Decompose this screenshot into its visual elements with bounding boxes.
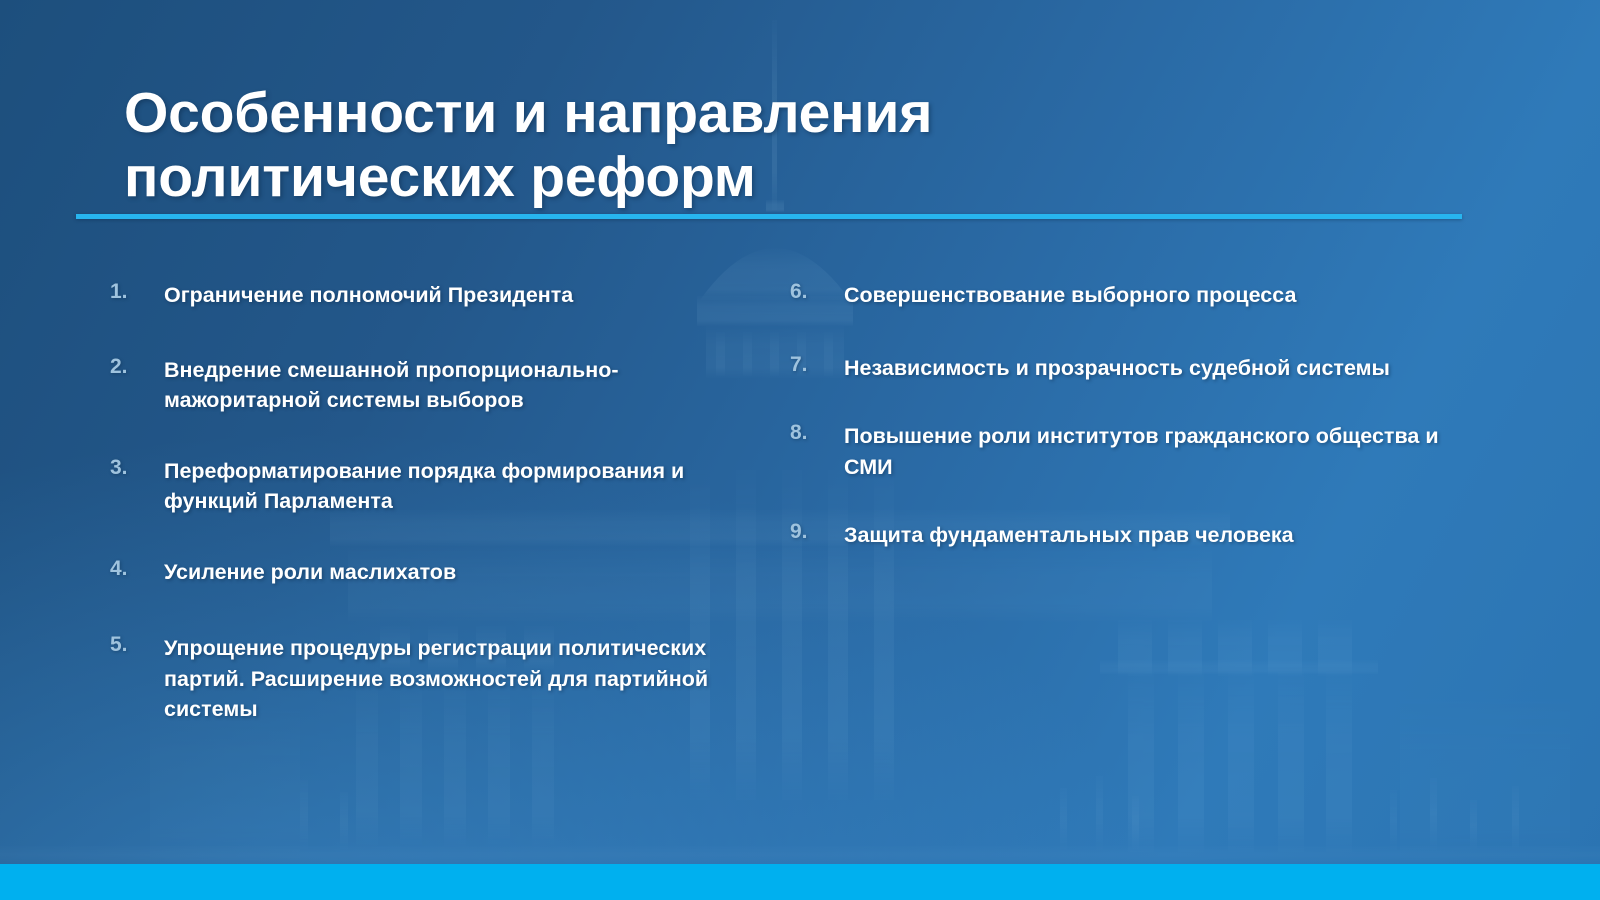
reform-list-left-column: 1. Ограничение полномочий Президента 2. … — [110, 280, 750, 751]
list-item: 5. Упрощение процедуры регистрации полит… — [110, 633, 750, 725]
list-item: 6. Совершенствование выборного процесса — [790, 280, 1450, 311]
bottom-accent-bar — [0, 864, 1600, 900]
list-item-number: 1. — [110, 280, 156, 304]
list-item: 4. Усиление роли маслихатов — [110, 557, 750, 588]
list-item: 2. Внедрение смешанной пропорционально-м… — [110, 355, 750, 416]
list-item: 9. Защита фундаментальных прав человека — [790, 520, 1450, 551]
reform-list-right-column: 6. Совершенствование выборного процесса … — [790, 280, 1450, 577]
list-item-label: Защита фундаментальных прав человека — [844, 520, 1450, 551]
list-item-label: Переформатирование порядка формирования … — [164, 456, 750, 517]
list-item-number: 8. — [790, 421, 836, 445]
list-item-number: 9. — [790, 520, 836, 544]
list-item-number: 2. — [110, 355, 156, 379]
list-item-number: 7. — [790, 353, 836, 377]
list-item: 8. Повышение роли институтов гражданског… — [790, 421, 1450, 482]
title-divider — [76, 214, 1462, 219]
list-item-label: Повышение роли институтов гражданского о… — [844, 421, 1450, 482]
list-item-label: Упрощение процедуры регистрации политиче… — [164, 633, 750, 725]
list-item-label: Усиление роли маслихатов — [164, 557, 750, 588]
list-item-number: 4. — [110, 557, 156, 581]
list-item: 7. Независимость и прозрачность судебной… — [790, 353, 1450, 384]
list-item-number: 3. — [110, 456, 156, 480]
list-item-label: Совершенствование выборного процесса — [844, 280, 1450, 311]
list-item: 1. Ограничение полномочий Президента — [110, 280, 750, 311]
slide-canvas: Особенности и направления политических р… — [0, 0, 1600, 900]
list-item-label: Внедрение смешанной пропорционально-мажо… — [164, 355, 750, 416]
list-item-label: Независимость и прозрачность судебной си… — [844, 353, 1450, 384]
list-item-number: 5. — [110, 633, 156, 657]
list-item-label: Ограничение полномочий Президента — [164, 280, 750, 311]
list-item: 3. Переформатирование порядка формирован… — [110, 456, 750, 517]
page-title: Особенности и направления политических р… — [124, 82, 1204, 210]
list-item-number: 6. — [790, 280, 836, 304]
